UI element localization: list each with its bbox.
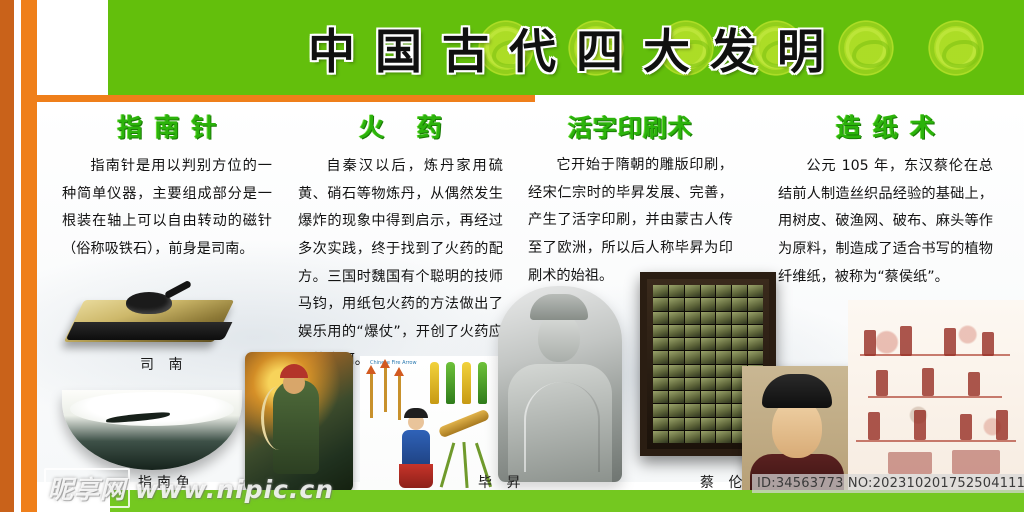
watermark-brand: 昵享网www.nipic.cn <box>44 468 334 508</box>
caption-sinan: 司 南 <box>140 354 187 374</box>
section-title-printing: 活字印刷术 <box>528 108 733 143</box>
papermaking-scene-image <box>848 300 1024 492</box>
fire-arrow-label: Chinese Fire Arrow <box>370 360 417 366</box>
section-title-compass: 指南针 <box>62 108 272 144</box>
section-compass: 指南针 指南针是用以判别方位的一种简单仪器，主要组成部分是一根装在轴上可以自由转… <box>62 108 272 264</box>
section-printing: 活字印刷术 它开始于隋朝的雕版印刷，经宋仁宗时的毕昇发展、完善，产生了活字印刷，… <box>528 108 733 290</box>
watermark-brand-cn: 昵享网 <box>44 468 130 508</box>
section-title-gunpowder: 火 药 <box>298 108 503 144</box>
header-banner: 中国古代四大发明 <box>108 0 1024 95</box>
section-body-gunpowder: 自秦汉以后，炼丹家用硫黄、硝石等物炼丹，从偶然发生爆炸的现象中得到启示，再经过多… <box>298 153 503 375</box>
left-border-orange <box>21 0 37 512</box>
section-gunpowder: 火 药 自秦汉以后，炼丹家用硫黄、硝石等物炼丹，从偶然发生爆炸的现象中得到启示，… <box>298 108 503 375</box>
section-title-papermaking: 造纸术 <box>778 108 993 144</box>
sinan-compass-image <box>70 278 230 348</box>
section-papermaking: 造纸术 公元 105 年，东汉蔡伦在总结前人制造丝织品经验的基础上，用树皮、破渔… <box>778 108 993 291</box>
section-body-compass: 指南针是用以判别方位的一种简单仪器，主要组成部分是一根装在轴上可以自由转动的磁针… <box>62 153 272 264</box>
section-body-papermaking: 公元 105 年，东汉蔡伦在总结前人制造丝织品经验的基础上，用树皮、破渔网、破布… <box>778 153 993 291</box>
header-orange-rule <box>37 95 535 102</box>
poster-title: 中国古代四大发明 <box>108 0 1024 95</box>
watermark-site: www.nipic.cn <box>135 475 334 504</box>
section-body-printing: 它开始于隋朝的雕版印刷，经宋仁宗时的毕昇发展、完善，产生了活字印刷，并由蒙古人传… <box>528 152 733 290</box>
left-border-dark <box>0 0 14 512</box>
soldier-figure <box>396 410 436 488</box>
left-border-gap <box>14 0 21 512</box>
watermark-id: ID:34563773 NO:20231020175250411100 <box>752 474 1024 493</box>
bi-sheng-statue-image <box>498 286 622 482</box>
caption-bi-sheng: 毕 昇 <box>478 472 525 492</box>
poster-canvas: 中国古代四大发明 指南针 指南针是用以判别方位的一种简单仪器，主要组成部分是一根… <box>0 0 1024 512</box>
compass-fish-image <box>62 390 242 474</box>
caption-cai-lun: 蔡 伦 <box>700 472 747 492</box>
